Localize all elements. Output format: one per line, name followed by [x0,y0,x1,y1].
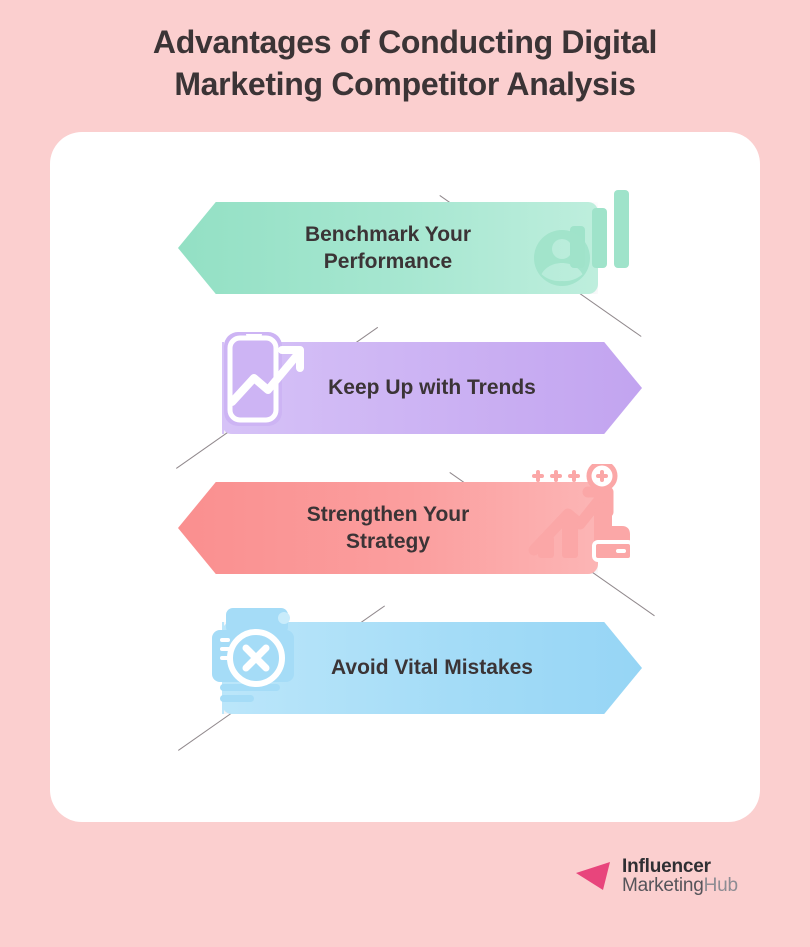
bar-chart-user-icon [520,182,632,286]
logo-arrow-icon [576,859,616,893]
growth-strategy-icon [522,464,634,568]
brand-logo[interactable]: Influencer MarketingHub [576,857,738,896]
advantage-row-2: Keep Up with Trends [50,320,760,480]
logo-wordmark: Influencer MarketingHub [622,857,738,896]
title-line-1: Advantages of Conducting Digital [58,22,752,64]
advantage-row-3: Strengthen Your Strategy [50,460,760,620]
infographic-poster: Advantages of Conducting Digital Marketi… [0,0,810,947]
logo-bottom-main: Marketing [622,875,704,896]
advantage-row-1: Benchmark Your Performance [50,180,760,340]
page-title: Advantages of Conducting Digital Marketi… [0,22,810,105]
logo-bottom-text: MarketingHub [622,876,738,895]
content-card: Benchmark Your Performance Keep Up with [50,132,760,822]
browser-error-icon [198,604,310,708]
logo-bottom-accent: Hub [704,875,738,896]
title-line-2: Marketing Competitor Analysis [58,64,752,106]
logo-top-text: Influencer [622,857,738,876]
advantage-row-4: Avoid Vital Mistakes [50,600,760,760]
phone-trend-icon [206,328,318,432]
